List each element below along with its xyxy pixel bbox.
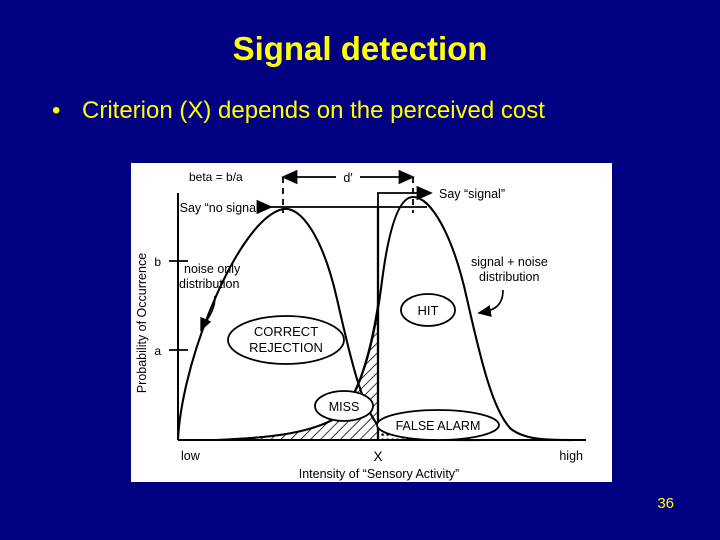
bullet-item-label: Criterion (X) depends on the perceived c… <box>82 96 545 126</box>
signal-noise-label-line1: signal + noise <box>471 255 548 269</box>
signal-detection-figure: b a Probability of Occurrence low X high… <box>131 163 612 482</box>
bullet-list-item: • Criterion (X) depends on the perceived… <box>52 96 692 126</box>
signal-noise-callout-arrow <box>479 290 503 313</box>
region-label-miss: MISS <box>315 391 373 421</box>
slide-canvas: Signal detection • Criterion (X) depends… <box>0 0 720 540</box>
say-signal-label: Say “signal” <box>439 187 505 201</box>
figure-image-panel: b a Probability of Occurrence low X high… <box>131 163 612 482</box>
signal-noise-label-line2: distribution <box>479 270 539 284</box>
y-axis-label: Probability of Occurrence <box>135 253 149 393</box>
beta-label: beta = b/a <box>189 170 243 184</box>
region-label-correct-rejection: CORRECT REJECTION <box>228 316 344 364</box>
x-tick-label-low: low <box>181 449 201 463</box>
correct-rejection-label-line2: REJECTION <box>249 340 323 355</box>
y-tick-label-a: a <box>154 344 161 358</box>
region-label-hit: HIT <box>401 294 455 326</box>
y-tick-label-b: b <box>154 255 161 269</box>
x-axis-label: Intensity of “Sensory Activity” <box>299 467 459 481</box>
region-label-false-alarm: FALSE ALARM <box>377 410 499 440</box>
x-tick-label-criterion: X <box>373 449 382 464</box>
x-tick-label-high: high <box>559 449 583 463</box>
miss-label: MISS <box>329 400 360 414</box>
dprime-label: d′ <box>343 171 353 185</box>
page-title: Signal detection <box>0 30 720 68</box>
say-no-signal-label: Say “no signal” <box>180 201 263 215</box>
bullet-marker-icon: • <box>52 96 82 126</box>
noise-only-label-line2: distribution <box>179 277 239 291</box>
false-alarm-label: FALSE ALARM <box>396 419 481 433</box>
correct-rejection-label-line1: CORRECT <box>254 324 318 339</box>
slide-number: 36 <box>657 495 674 512</box>
hit-label: HIT <box>418 303 439 318</box>
noise-only-label-line1: noise only <box>184 262 241 276</box>
